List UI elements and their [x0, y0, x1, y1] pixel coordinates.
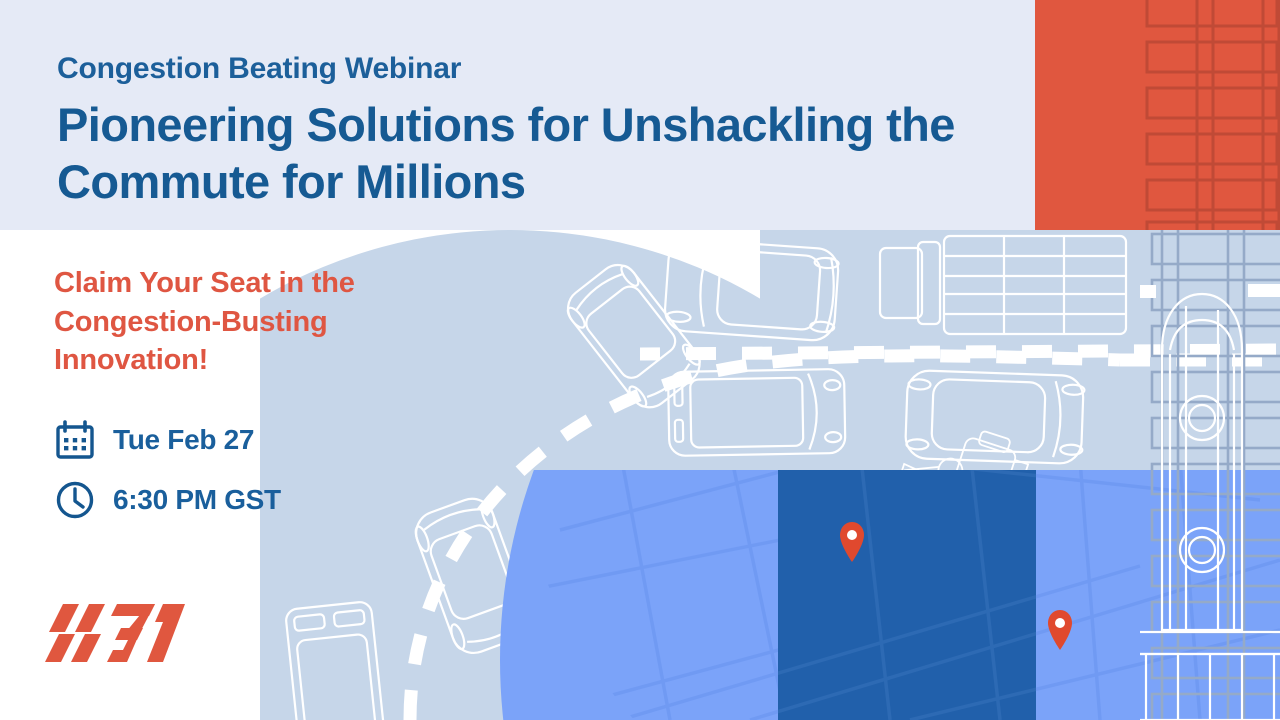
truck-outline [880, 236, 1126, 334]
bus-outline [285, 601, 388, 720]
city-map-area [500, 470, 1280, 720]
webinar-poster: Congestion Beating Webinar Pioneering So… [0, 0, 1280, 720]
map-pin-icon[interactable] [840, 522, 864, 562]
railway-rails [1197, 0, 1279, 230]
event-time-row: 6:30 PM GST [55, 480, 281, 520]
car-outline [905, 370, 1085, 464]
poster-headline: Pioneering Solutions for Unshackling the… [57, 96, 1017, 211]
clock-icon [55, 480, 95, 520]
calendar-icon [55, 420, 95, 460]
rail-pattern-red [1035, 0, 1280, 230]
poster-call-to-action: Claim Your Seat in the Congestion-Bustin… [54, 264, 484, 380]
accent-red-block [1035, 0, 1280, 230]
brand-logo[interactable] [45, 602, 185, 664]
map-streets-overlay [500, 470, 1280, 720]
event-date-label: Tue Feb 27 [113, 424, 254, 456]
logo-mark-431-icon [45, 602, 185, 664]
car-outline [668, 369, 845, 456]
event-time-label: 6:30 PM GST [113, 484, 281, 516]
event-date-row: Tue Feb 27 [55, 420, 254, 460]
car-outline [664, 238, 840, 342]
map-pin-icon[interactable] [1048, 610, 1072, 650]
poster-kicker: Congestion Beating Webinar [57, 52, 461, 85]
